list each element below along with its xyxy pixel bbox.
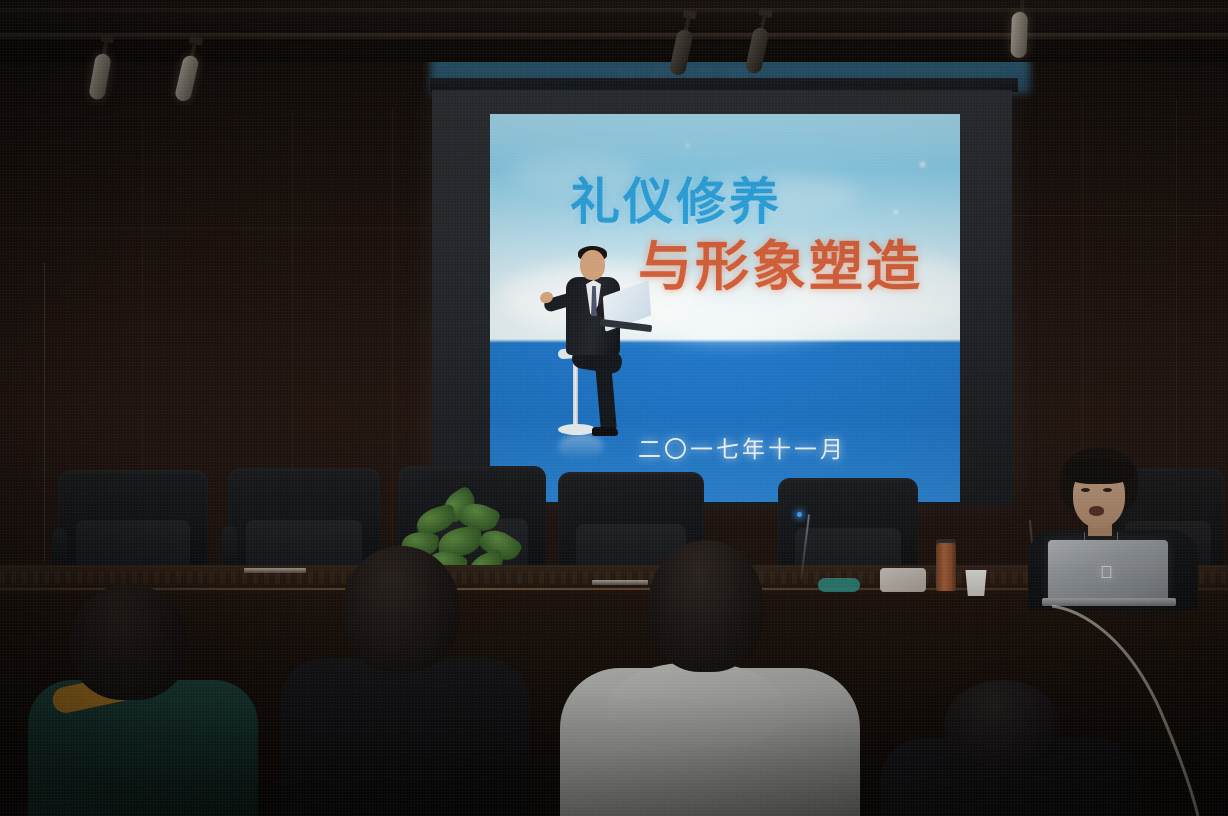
presentation-slide: 礼仪修养 与形象塑造 二〇一七年十一月 (490, 114, 960, 502)
slide-businessman-figure (542, 244, 652, 474)
hoodie-hood (608, 662, 784, 748)
wall-seam (0, 228, 430, 229)
flag-pole (44, 262, 45, 562)
track-spotlight-icon (1011, 12, 1032, 55)
wall-seam (1010, 215, 1228, 216)
apple-logo-icon:  (1100, 564, 1116, 582)
projection-screen: 礼仪修养 与形象塑造 二〇一七年十一月 (432, 90, 1012, 505)
audience-member (880, 680, 1140, 816)
audience-member (28, 584, 258, 816)
wall-seam (392, 108, 393, 568)
ceiling-light-rail (0, 33, 1228, 40)
audience-member (290, 546, 520, 816)
microphone-led-indicator (797, 512, 802, 517)
thermos-flask (936, 543, 956, 591)
paper-cup (964, 570, 988, 596)
presenter-laptop-base (1042, 598, 1176, 606)
tote-bag (880, 568, 926, 592)
conference-hall-scene: 礼仪修养 (0, 0, 1228, 816)
slide-title-secondary: 与形象塑造 (638, 222, 923, 301)
ceiling-rail-upper (0, 8, 1228, 13)
stage-chair (58, 470, 208, 575)
audience-member (560, 540, 860, 816)
presenter-laptop:  (1048, 540, 1168, 602)
slide-date: 二〇一七年十一月 (638, 430, 846, 464)
